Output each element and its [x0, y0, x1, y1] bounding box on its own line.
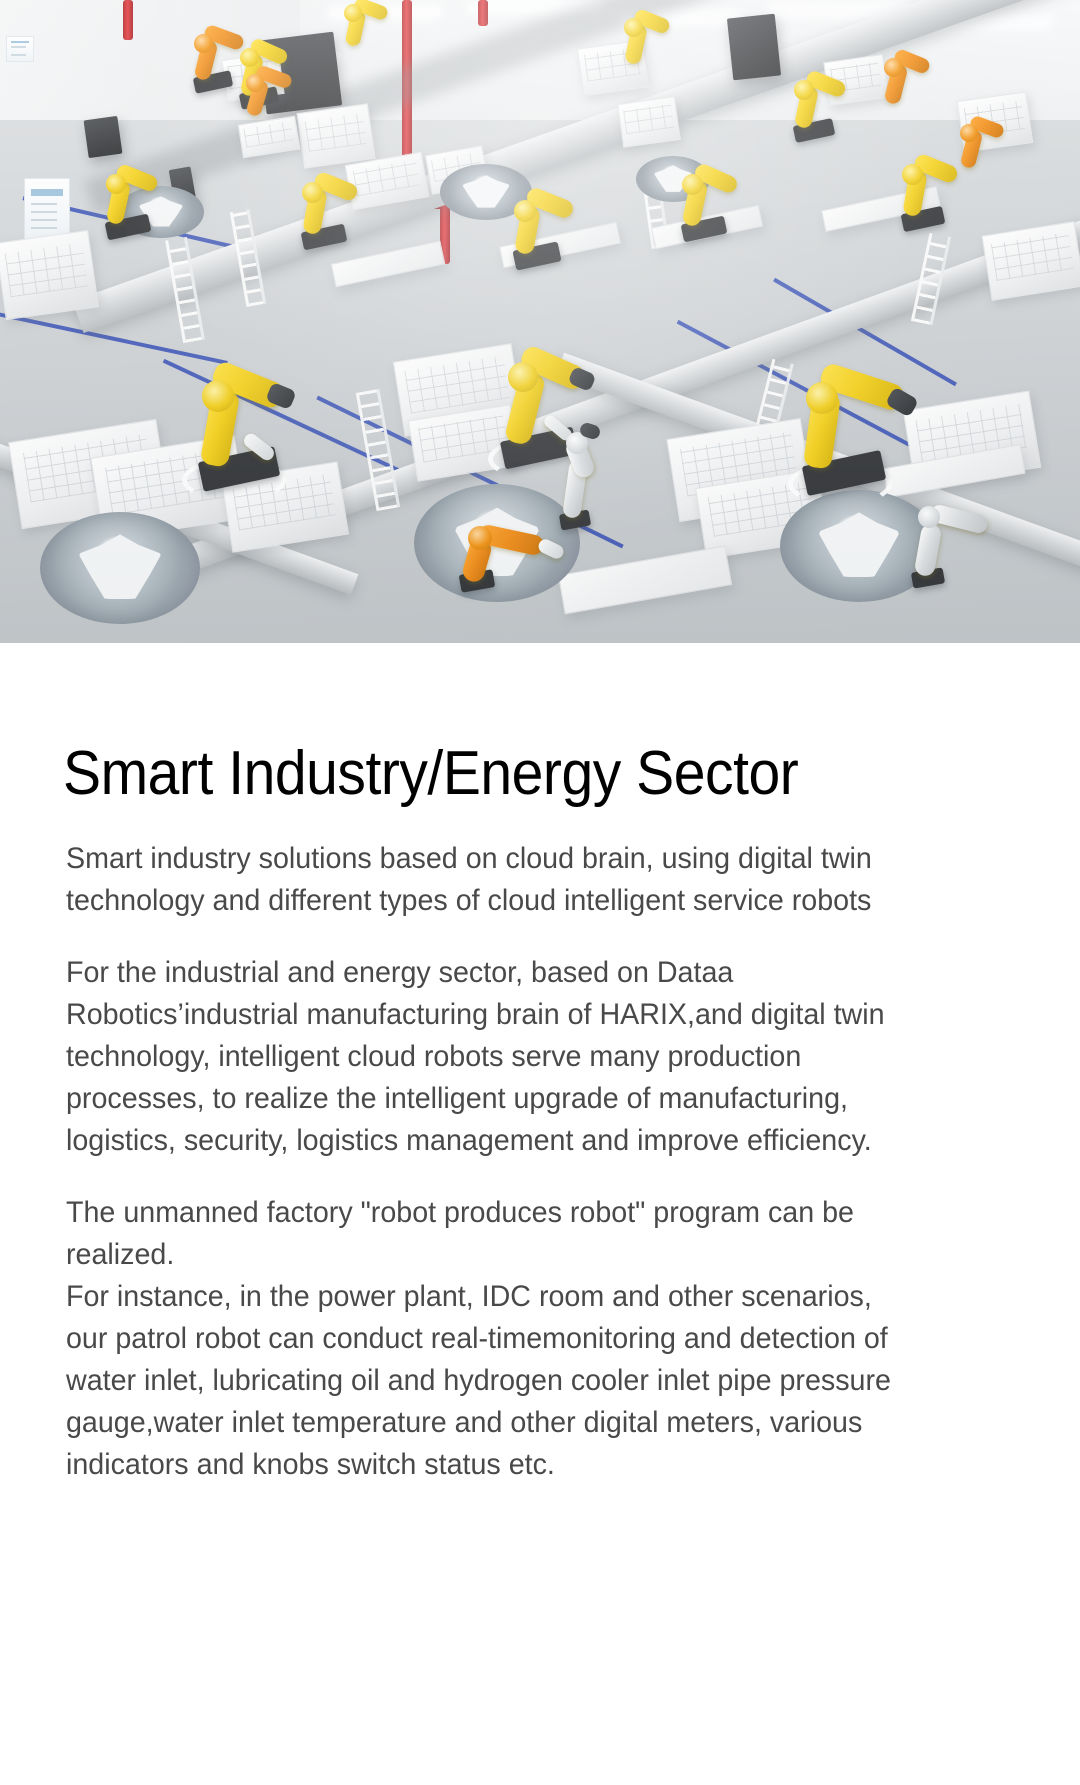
wall-poster — [6, 36, 34, 62]
robot-arm-orange — [952, 118, 1012, 182]
robot-shoulder-joint — [902, 164, 923, 185]
robot-arm-yellow — [336, 0, 396, 58]
article-paragraph-2: The unmanned factory "robot produces rob… — [66, 1192, 912, 1276]
robot-shoulder-joint — [246, 74, 264, 92]
robot-shoulder-joint — [794, 80, 814, 100]
robot-arm-silver — [556, 420, 656, 540]
robot-elbow-joint — [468, 526, 492, 550]
parts-crate — [296, 103, 375, 168]
equipment-cabinet — [84, 116, 123, 158]
robot-arm-yellow — [504, 190, 582, 276]
robot-shoulder-joint — [514, 200, 536, 222]
equipment-cabinet — [727, 14, 781, 81]
robot-shoulder-joint — [884, 58, 903, 77]
red-pipe — [478, 0, 488, 26]
robot-arm-yellow — [292, 174, 364, 254]
robot-arm-yellow — [96, 166, 166, 244]
robot-arm-yellow — [186, 362, 306, 502]
red-pipe — [123, 0, 133, 40]
robot-shoulder-joint — [202, 380, 234, 412]
robot-gripper — [536, 537, 566, 561]
article-body: Smart industry solutions based on cloud … — [66, 838, 912, 1486]
robot-arm-yellow — [672, 166, 746, 248]
robot-arm-yellow — [616, 12, 678, 78]
robot-shoulder-joint — [106, 174, 126, 194]
robot-shoulder-joint — [960, 124, 978, 142]
robot-arm-silver — [906, 490, 1026, 600]
turntable — [40, 512, 200, 624]
robot-shoulder-joint — [302, 182, 323, 203]
robot-shoulder-joint — [682, 174, 703, 195]
page-title: Smart Industry/Energy Sector — [63, 740, 999, 808]
article-paragraph-3: For instance, in the power plant, IDC ro… — [66, 1276, 912, 1486]
robot-arm-orange — [452, 520, 572, 606]
robot-shoulder-joint — [624, 18, 643, 37]
robot-shoulder-joint — [508, 362, 538, 392]
article-paragraph-1: For the industrial and energy sector, ba… — [66, 952, 912, 1162]
robot-arm-yellow — [790, 370, 920, 506]
article-content: Smart Industry/Energy Sector Smart indus… — [0, 643, 1080, 1486]
parts-crate — [617, 96, 681, 148]
robot-shoulder-joint — [806, 382, 838, 414]
factory-scene — [0, 0, 1080, 643]
parts-crate — [981, 221, 1080, 301]
robot-elbow-joint — [918, 506, 940, 528]
robot-shoulder-joint — [194, 34, 213, 53]
robot-arm-orange — [238, 64, 300, 132]
robot-arm-yellow — [786, 74, 852, 146]
article-lead-paragraph: Smart industry solutions based on cloud … — [66, 838, 912, 922]
robot-arm-orange — [876, 50, 938, 120]
robot-shoulder-joint — [344, 4, 362, 22]
page-root: Smart Industry/Energy Sector Smart indus… — [0, 0, 1080, 1785]
hero-image — [0, 0, 1080, 643]
parts-crate — [0, 230, 99, 320]
